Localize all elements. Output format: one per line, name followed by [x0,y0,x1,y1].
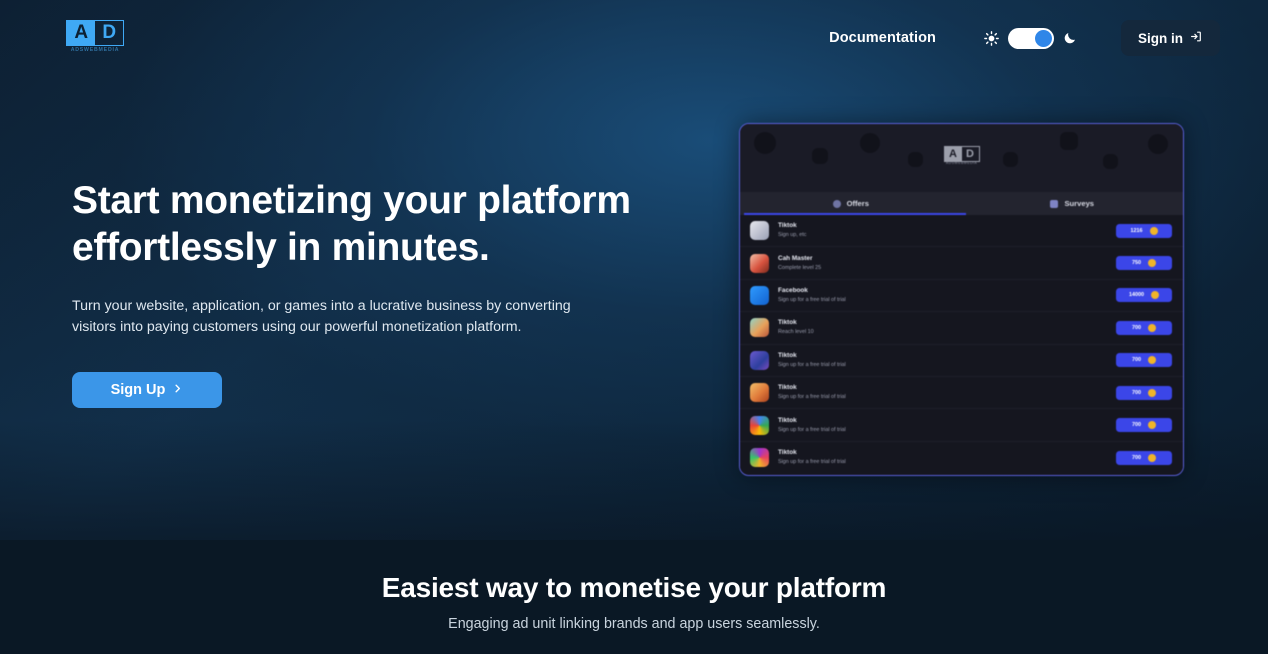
offer-reward-button[interactable]: 700 [1116,386,1172,400]
offer-reward-button[interactable]: 700 [1116,418,1172,432]
documentation-link[interactable]: Documentation [825,24,940,52]
theme-toggle-group [984,28,1077,49]
offer-description: Sign up for a free trial of trial [778,296,1116,305]
coin-icon [1148,389,1156,397]
list-item[interactable]: Tiktok Sign up for a free trial of trial… [740,345,1183,377]
signin-button-label: Sign in [1138,31,1183,46]
list-item[interactable]: Tiktok Reach level 10 700 [740,312,1183,344]
offer-description: Sign up for a free trial of trial [778,393,1116,402]
mockup-logo-letter-d: D [962,147,979,161]
signin-button[interactable]: Sign in [1121,20,1220,56]
list-item[interactable]: Tiktok Sign up, etc 1216 [740,215,1183,247]
page-title: Start monetizing your platform effortles… [72,178,672,272]
coin-icon [1148,421,1156,429]
offer-reward-button[interactable]: 700 [1116,353,1172,367]
offer-icon [750,254,769,273]
offer-title: Cah Master [778,254,1116,263]
offer-description: Sign up for a free trial of trial [778,361,1116,370]
mockup-tabs: Offers Surveys [740,192,1183,215]
offer-reward-button[interactable]: 700 [1116,321,1172,335]
chevron-right-icon [172,382,183,398]
offer-text: Tiktok Sign up for a free trial of trial [778,448,1116,467]
tab-offers-label: Offers [847,199,869,208]
list-item[interactable]: Tiktok Sign up for a free trial of trial… [740,442,1183,474]
offer-reward-value: 700 [1132,455,1141,461]
offer-title: Tiktok [778,448,1116,457]
offer-reward-button[interactable]: 1216 [1116,224,1172,238]
decorative-blob [908,152,923,167]
coin-icon [1148,356,1156,364]
navbar: A D ADSWEBMEDIA Documentation [0,0,1268,76]
logo-mark: A D [66,20,124,46]
landing-page: A D ADSWEBMEDIA Documentation [0,0,1268,654]
logo-letter-d: D [95,21,123,45]
features-section: Easiest way to monetise your platform En… [0,540,1268,654]
offer-list: Tiktok Sign up, etc 1216 Cah Master Comp… [740,215,1183,474]
offer-title: Tiktok [778,221,1116,230]
offer-text: Cah Master Complete level 25 [778,254,1116,273]
offer-title: Tiktok [778,351,1116,360]
decorative-blob [754,132,776,154]
offer-icon [750,221,769,240]
offer-text: Tiktok Sign up for a free trial of trial [778,351,1116,370]
decorative-blob [1060,132,1078,150]
tab-surveys[interactable]: Surveys [962,192,1184,215]
list-item[interactable]: Cah Master Complete level 25 750 [740,247,1183,279]
theme-toggle-knob [1035,30,1052,47]
login-arrow-icon [1190,30,1203,46]
offer-text: Tiktok Sign up for a free trial of trial [778,383,1116,402]
coin-icon [1148,259,1156,267]
offer-description: Reach level 10 [778,328,1116,337]
offer-title: Tiktok [778,416,1116,425]
decorative-blob [1148,134,1168,154]
offer-reward-value: 700 [1132,325,1141,331]
logo-subtext: ADSWEBMEDIA [66,47,124,53]
features-subtitle: Engaging ad unit linking brands and app … [448,616,820,632]
offer-reward-button[interactable]: 750 [1116,256,1172,270]
signup-button[interactable]: Sign Up [72,372,222,408]
offer-title: Tiktok [778,383,1116,392]
signup-button-label: Sign Up [111,382,166,398]
mockup-logo-subtext: ADSWEBMEDIA [946,161,977,165]
offer-text: Tiktok Sign up, etc [778,221,1116,240]
mockup-header: A D ADSWEBMEDIA [740,124,1183,192]
logo-letter-a: A [67,21,95,45]
offer-reward-button[interactable]: 14000 [1116,288,1172,302]
offer-icon [750,416,769,435]
offer-reward-button[interactable]: 700 [1116,451,1172,465]
hero-copy: Start monetizing your platform effortles… [72,178,672,408]
list-item[interactable]: Facebook Sign up for a free trial of tri… [740,280,1183,312]
offer-text: Tiktok Reach level 10 [778,318,1116,337]
offer-reward-value: 700 [1132,390,1141,396]
offer-description: Sign up, etc [778,231,1116,240]
offer-description: Sign up for a free trial of trial [778,426,1116,435]
coin-icon [1148,324,1156,332]
coin-icon [1148,454,1156,462]
navbar-right: Documentation [825,0,1220,76]
offer-reward-value: 700 [1132,357,1141,363]
offer-title: Facebook [778,286,1116,295]
decorative-blob [860,133,880,153]
offer-text: Facebook Sign up for a free trial of tri… [778,286,1116,305]
brand-logo[interactable]: A D ADSWEBMEDIA [66,20,124,53]
hero-title-line-1: Start monetizing your platform [72,178,672,225]
decorative-blob [1103,154,1118,169]
mockup-logo-letter-a: A [945,147,962,161]
tab-surveys-label: Surveys [1064,199,1094,208]
offer-title: Tiktok [778,318,1116,327]
offer-icon [750,318,769,337]
offer-icon [750,448,769,467]
offer-reward-value: 1216 [1131,228,1143,234]
hero-subtitle: Turn your website, application, or games… [72,296,602,339]
offer-description: Sign up for a free trial of trial [778,458,1116,467]
decorative-blob [812,148,828,164]
offer-description: Complete level 25 [778,264,1116,273]
app-preview-mockup: A D ADSWEBMEDIA Offers Surveys Tiktok Si… [739,123,1184,476]
offer-reward-value: 14000 [1129,292,1144,298]
coin-icon [1150,227,1158,235]
offer-reward-value: 750 [1132,260,1141,266]
list-item[interactable]: Tiktok Sign up for a free trial of trial… [740,377,1183,409]
offer-icon [750,351,769,370]
decorative-blob [1003,152,1018,167]
offer-icon [750,383,769,402]
square-icon [1050,200,1058,208]
moon-icon[interactable] [1063,31,1077,45]
circle-icon [833,200,841,208]
offer-reward-value: 700 [1132,422,1141,428]
list-item[interactable]: Tiktok Sign up for a free trial of trial… [740,409,1183,441]
sun-icon[interactable] [984,31,999,46]
tab-active-indicator [744,213,966,216]
offer-icon [750,286,769,305]
mockup-logo-mark: A D [944,146,980,162]
features-title: Easiest way to monetise your platform [382,572,887,604]
theme-toggle-switch[interactable] [1008,28,1054,49]
coin-icon [1151,291,1159,299]
offer-text: Tiktok Sign up for a free trial of trial [778,416,1116,435]
hero-title-line-2: effortlessly in minutes. [72,225,672,272]
